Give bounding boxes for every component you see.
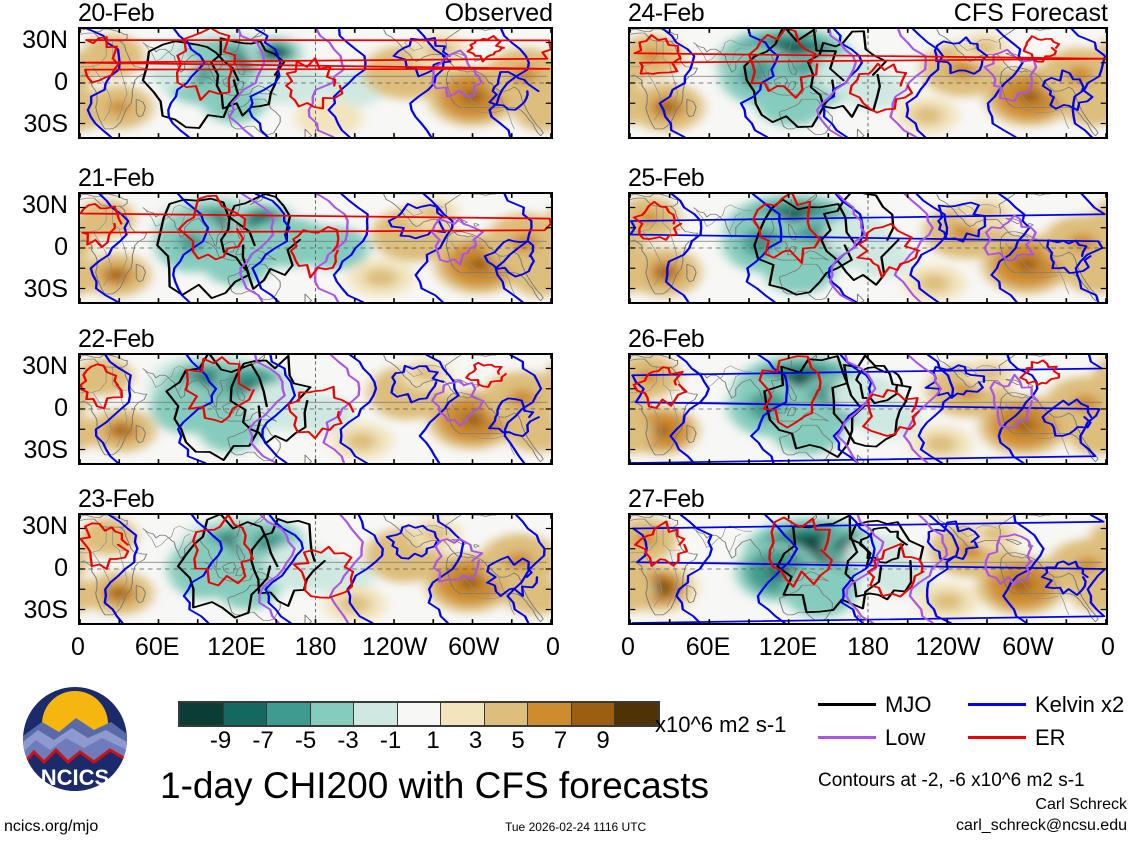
panel-date-label: 21-Feb [78,166,154,191]
colorbar-tick: -7 [252,728,273,754]
map-panel-20-feb: 20-FebObserved 30N030S [78,27,553,139]
map-canvas [628,27,1108,139]
colorbar-tick: 5 [511,728,524,754]
x-axis-label: 120E [759,635,817,660]
legend-label-er: ER [1035,727,1066,749]
legend-row-1: MJO Kelvin x2 [818,688,1118,721]
x-axis-label: 120W [362,635,427,660]
map-panel-25-feb: 25-Feb [628,192,1108,304]
colorbar-swatch [354,703,398,725]
legend-item-low: Low [818,727,968,749]
colorbar-tick: -1 [380,728,401,754]
colorbar-tick: -9 [210,728,231,754]
panel-date-label: 23-Feb [78,487,154,512]
colorbar-tick: 1 [426,728,439,754]
kelvin-line-swatch [968,703,1026,706]
map-canvas [78,353,553,465]
contour-legend: MJO Kelvin x2 Low ER [818,688,1118,754]
ncics-logo-text: NCICS [41,765,109,790]
colorbar-swatch [485,703,529,725]
map-panel-27-feb: 27-Feb [628,513,1108,625]
map-panel-24-feb: 24-FebCFS Forecast [628,27,1108,139]
legend-label-kelvin: Kelvin x2 [1035,694,1124,716]
map-canvas [628,192,1108,304]
x-axis-label: 0 [71,635,85,660]
colorbar-swatch [441,703,485,725]
y-axis-label: 0 [54,235,68,260]
map-canvas [628,353,1108,465]
legend-label-low: Low [885,727,925,749]
y-axis-label: 30N [22,193,68,218]
colorbar-units-label: x10^6 m2 s-1 [655,712,786,738]
page-title: 1-day CHI200 with CFS forecasts [160,766,709,806]
y-axis-label: 30S [24,438,68,463]
x-axis-label: 0 [621,635,635,660]
colorbar-tick: -3 [337,728,358,754]
map-canvas [78,192,553,304]
colorbar-swatch [615,703,658,725]
map-panel-23-feb: 23-Feb 30N030S [78,513,553,625]
map-panel-26-feb: 26-Feb [628,353,1108,465]
panel-date-label: 25-Feb [628,166,704,191]
panel-date-label: 27-Feb [628,487,704,512]
legend-item-er: ER [968,727,1118,749]
colorbar-swatch [267,703,311,725]
colorbar-tick: 7 [554,728,567,754]
y-axis-label: 0 [54,556,68,581]
low-line-swatch [818,736,876,739]
panel-date-label: 24-Feb [628,1,704,26]
author-name: Carl Schreck [1035,796,1127,814]
legend-row-2: Low ER [818,721,1118,754]
ncics-logo[interactable]: NCICS [14,678,136,800]
legend-item-mjo: MJO [818,694,968,716]
contour-note: Contours at -2, -6 x10^6 m2 s-1 [818,770,1085,792]
colorbar-swatch [398,703,442,725]
er-line-swatch [968,736,1026,739]
panel-corner-label: CFS Forecast [954,1,1108,26]
map-canvas [78,513,553,625]
timestamp: Tue 2026-02-24 1116 UTC [505,820,646,834]
x-axis-label: 60W [1002,635,1053,660]
map-canvas [628,513,1108,625]
y-axis-label: 0 [54,70,68,95]
colorbar-swatch [528,703,572,725]
y-axis-label: 0 [54,396,68,421]
panel-date-label: 22-Feb [78,327,154,352]
colorbar-tick: -5 [295,728,316,754]
panel-corner-label: Observed [445,1,553,26]
y-axis-label: 30S [24,112,68,137]
colorbar-swatches [178,701,660,727]
legend-label-mjo: MJO [885,694,931,716]
x-axis-label: 120E [207,635,265,660]
site-url[interactable]: ncics.org/mjo [4,818,98,836]
map-panel-21-feb: 21-Feb 30N030S [78,192,553,304]
colorbar: -9-7-5-3-113579 [178,701,660,756]
x-axis-label: 60W [448,635,499,660]
colorbar-swatch [311,703,355,725]
y-axis-label: 30N [22,354,68,379]
panel-date-label: 26-Feb [628,327,704,352]
map-panel-22-feb: 22-Feb 30N030S [78,353,553,465]
colorbar-tick: 9 [596,728,609,754]
colorbar-swatch [180,703,224,725]
x-axis-label: 180 [847,635,889,660]
x-axis-label: 60E [135,635,179,660]
y-axis-label: 30S [24,598,68,623]
x-axis-label: 180 [295,635,337,660]
colorbar-swatch [224,703,268,725]
x-axis-label: 60E [686,635,730,660]
y-axis-label: 30N [22,514,68,539]
map-canvas [78,27,553,139]
x-axis-label: 0 [1101,635,1115,660]
colorbar-tick: 3 [469,728,482,754]
panel-date-label: 20-Feb [78,1,154,26]
x-axis-label: 0 [546,635,560,660]
colorbar-swatch [572,703,616,725]
x-axis-label: 120W [915,635,980,660]
mjo-line-swatch [818,703,876,706]
y-axis-label: 30N [22,28,68,53]
colorbar-tick-labels: -9-7-5-3-113579 [178,728,660,756]
author-email: carl_schreck@ncsu.edu [956,817,1127,835]
y-axis-label: 30S [24,277,68,302]
legend-item-kelvin: Kelvin x2 [968,694,1118,716]
